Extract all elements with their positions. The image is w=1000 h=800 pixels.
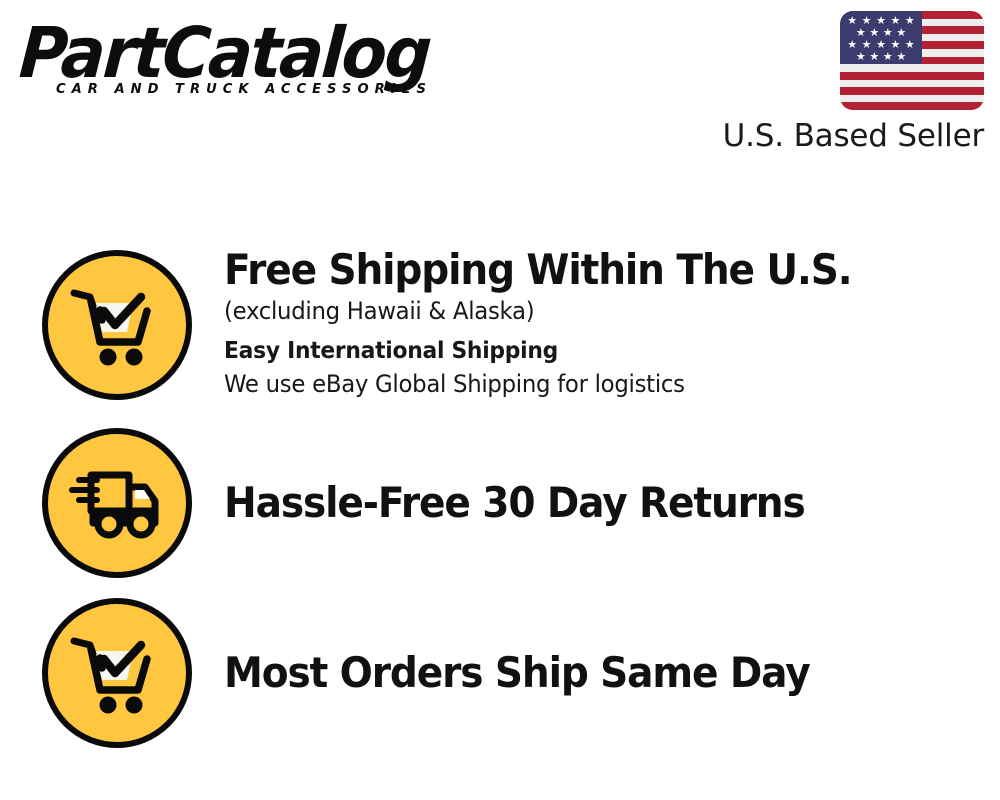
feature-text: Hassle-Free 30 Day Returns	[224, 478, 1000, 528]
feature-headline: Most Orders Ship Same Day	[224, 648, 927, 698]
star-icon: ★	[862, 40, 872, 51]
delivery-truck-icon	[42, 428, 192, 578]
flag-stripe	[840, 80, 984, 88]
star-icon: ★	[869, 52, 879, 63]
star-icon: ★	[883, 28, 893, 39]
star-icon: ★	[876, 16, 886, 27]
feature-headline: Free Shipping Within The U.S.	[224, 245, 927, 295]
us-flag-icon: ★ ★ ★ ★ ★ ★ ★ ★ ★ ★ ★ ★ ★ ★ ★ ★	[840, 11, 984, 110]
star-icon: ★	[856, 52, 866, 63]
feature-text: Free Shipping Within The U.S. (excluding…	[224, 245, 1000, 401]
flag-stripe	[840, 95, 984, 103]
shopping-cart-check-icon	[42, 598, 192, 748]
brand-tagline: CAR AND TRUCK ACCESSORIES	[56, 81, 479, 97]
feature-sub-heading: Easy International Shipping	[224, 334, 942, 368]
star-icon: ★	[876, 40, 886, 51]
star-icon: ★	[896, 52, 906, 63]
flag-star-row: ★ ★ ★ ★	[840, 28, 922, 39]
star-icon: ★	[869, 28, 879, 39]
feature-text: Most Orders Ship Same Day	[224, 648, 1000, 698]
feature-headline: Hassle-Free 30 Day Returns	[224, 478, 927, 528]
flag-stripe	[840, 87, 984, 95]
seller-label: U.S. Based Seller	[714, 118, 984, 154]
star-icon: ★	[847, 40, 857, 51]
flag-stripe	[840, 64, 984, 72]
star-icon: ★	[856, 28, 866, 39]
feature-row-free-shipping: Free Shipping Within The U.S. (excluding…	[0, 228, 1000, 418]
page-header: PartCatalog CAR AND TRUCK ACCESSORIES ★ …	[0, 0, 1000, 175]
feature-row-same-day-ship: Most Orders Ship Same Day	[0, 588, 1000, 758]
feature-sub-detail: We use eBay Global Shipping for logistic…	[224, 367, 942, 401]
brand-logo[interactable]: PartCatalog CAR AND TRUCK ACCESSORIES	[22, 18, 492, 113]
star-icon: ★	[896, 28, 906, 39]
flag-stripe	[840, 72, 984, 80]
star-icon: ★	[883, 52, 893, 63]
seller-badge: ★ ★ ★ ★ ★ ★ ★ ★ ★ ★ ★ ★ ★ ★ ★ ★	[714, 11, 984, 154]
flag-star-row: ★ ★ ★ ★ ★	[840, 40, 922, 51]
brand-wordmark: PartCatalog	[17, 18, 463, 88]
star-icon: ★	[890, 16, 900, 27]
star-icon: ★	[905, 16, 915, 27]
star-icon: ★	[890, 40, 900, 51]
flag-stripe	[840, 102, 984, 110]
flag-star-row: ★ ★ ★ ★ ★	[840, 16, 922, 27]
flag-star-row: ★ ★ ★ ★	[840, 52, 922, 63]
feature-sub-note: (excluding Hawaii & Alaska)	[224, 294, 942, 328]
star-icon: ★	[847, 16, 857, 27]
shopping-cart-check-icon	[42, 250, 192, 400]
star-icon: ★	[905, 40, 915, 51]
star-icon: ★	[862, 16, 872, 27]
feature-row-returns: Hassle-Free 30 Day Returns	[0, 418, 1000, 588]
